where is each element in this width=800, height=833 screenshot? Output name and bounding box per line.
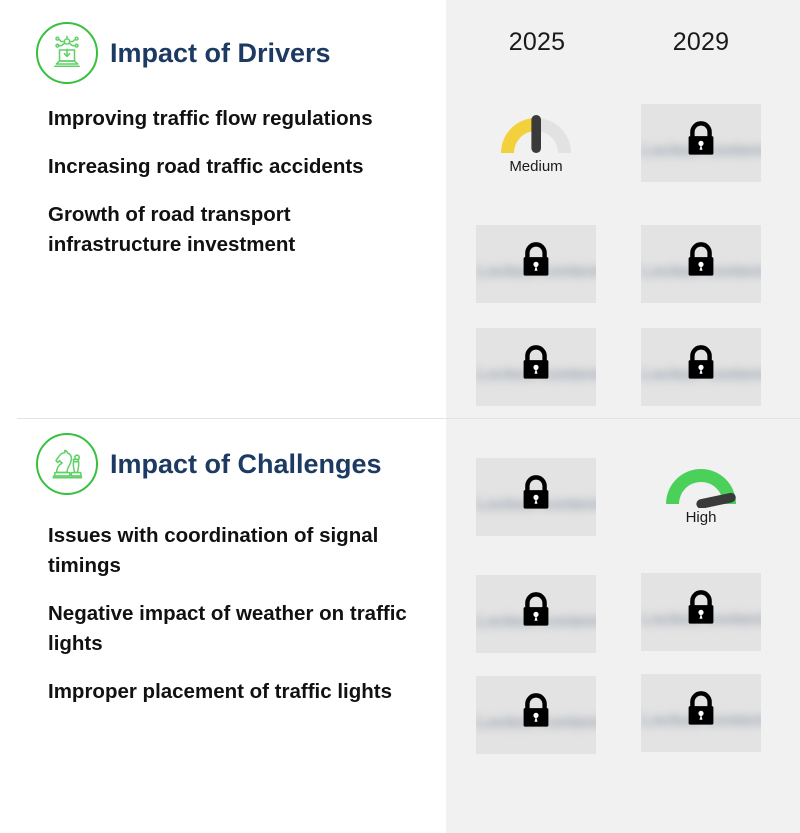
lock-icon — [519, 591, 553, 634]
list-item: Improper placement of traffic lights — [48, 677, 423, 707]
list-item: Improving traffic flow regulations — [48, 104, 423, 134]
cell-challenges-0-2025[interactable]: Locked content — [476, 458, 596, 536]
locked-cell[interactable]: Locked content — [641, 573, 761, 651]
locked-cell[interactable]: Locked content — [476, 676, 596, 754]
locked-cell[interactable]: Locked content — [476, 458, 596, 536]
lock-icon — [519, 474, 553, 517]
column-header-2029: 2029 — [630, 24, 772, 60]
chess-pieces-icon — [36, 433, 98, 495]
laptop-download-gear-icon — [36, 22, 98, 84]
cell-challenges-2-2025[interactable]: Locked content — [476, 676, 596, 754]
section-title: Impact of Challenges — [110, 449, 382, 480]
section-drivers: Impact of Drivers Improving traffic flow… — [0, 0, 446, 418]
section-challenges: Impact of Challenges Issues with coordin… — [0, 419, 446, 833]
section-header-challenges: Impact of Challenges — [36, 433, 382, 495]
locked-cell[interactable]: Locked content — [476, 328, 596, 406]
cell-drivers-1-2029[interactable]: Locked content — [641, 225, 761, 303]
cell-challenges-2-2029[interactable]: Locked content — [641, 674, 761, 752]
list-item: Issues with coordination of signal timin… — [48, 521, 423, 581]
cell-challenges-1-2029[interactable]: Locked content — [641, 573, 761, 651]
locked-cell[interactable]: Locked content — [641, 328, 761, 406]
column-header-2025: 2025 — [466, 24, 608, 60]
cell-drivers-1-2025[interactable]: Locked content — [476, 225, 596, 303]
gauge-medium: Medium — [476, 104, 596, 182]
gauge-svg — [660, 460, 742, 508]
lock-icon — [519, 344, 553, 387]
locked-cell[interactable]: Locked content — [476, 225, 596, 303]
lock-icon — [684, 690, 718, 733]
locked-cell[interactable]: Locked content — [476, 575, 596, 653]
driver-item-list: Improving traffic flow regulations Incre… — [48, 104, 423, 260]
cell-drivers-0-2029[interactable]: Locked content — [641, 104, 761, 182]
cell-challenges-1-2025[interactable]: Locked content — [476, 575, 596, 653]
gauge-svg — [495, 109, 577, 157]
section-header-drivers: Impact of Drivers — [36, 22, 331, 84]
challenge-item-list: Issues with coordination of signal timin… — [48, 521, 423, 707]
impact-matrix-board: 2025 2029 — [0, 0, 800, 833]
list-item: Growth of road transport infrastructure … — [48, 200, 423, 260]
gauge-label: High — [686, 509, 717, 526]
cell-drivers-0-2025[interactable]: Medium — [476, 104, 596, 182]
list-item: Increasing road traffic accidents — [48, 152, 423, 182]
locked-cell[interactable]: Locked content — [641, 104, 761, 182]
cell-drivers-2-2025[interactable]: Locked content — [476, 328, 596, 406]
cell-challenges-0-2029[interactable]: High — [641, 455, 761, 533]
gauge-label: Medium — [509, 158, 562, 175]
gauge-high: High — [641, 455, 761, 533]
lock-icon — [519, 692, 553, 735]
locked-cell[interactable]: Locked content — [641, 674, 761, 752]
section-title: Impact of Drivers — [110, 38, 331, 69]
lock-icon — [684, 241, 718, 284]
locked-cell[interactable]: Locked content — [641, 225, 761, 303]
lock-icon — [684, 344, 718, 387]
cell-drivers-2-2029[interactable]: Locked content — [641, 328, 761, 406]
lock-icon — [684, 120, 718, 163]
lock-icon — [519, 241, 553, 284]
list-item: Negative impact of weather on traffic li… — [48, 599, 423, 659]
lock-icon — [684, 589, 718, 632]
